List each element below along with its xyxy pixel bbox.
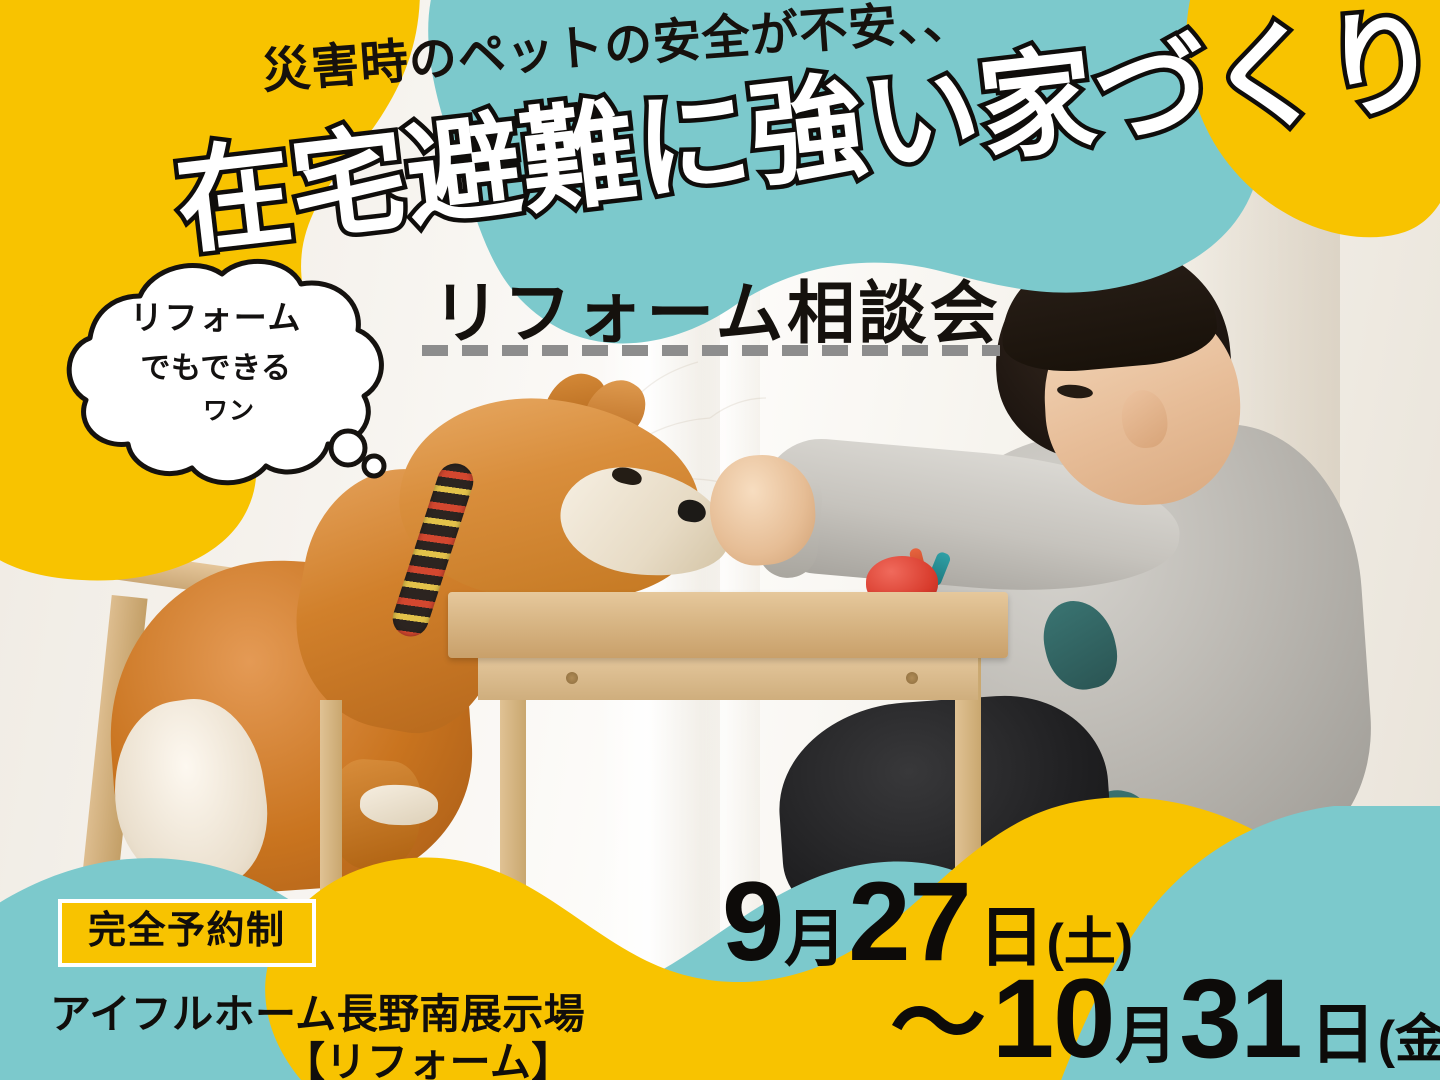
table-leg-front-left bbox=[500, 658, 526, 988]
thought-bubble-text: リフォーム でもできる ワン bbox=[56, 252, 376, 452]
start-day-number: 27 bbox=[848, 866, 970, 978]
poster-root: リフォーム でもできる ワン 災害時のペットの安全が不安、、 在宅避難に強い家づ… bbox=[0, 0, 1440, 1080]
end-month-number: 10 bbox=[992, 963, 1114, 1075]
table-top bbox=[448, 592, 1008, 658]
start-month-unit: 月 bbox=[784, 909, 846, 971]
dog-paw bbox=[359, 784, 438, 827]
table-screw-right bbox=[906, 672, 918, 684]
end-month-unit: 月 bbox=[1115, 1006, 1177, 1068]
table-leg-back-left bbox=[320, 700, 342, 1000]
thought-bubble-line-3: ワン bbox=[177, 391, 255, 427]
thought-bubble-line-1: リフォーム bbox=[130, 291, 302, 339]
end-day-number: 31 bbox=[1179, 963, 1301, 1075]
subtitle-dashed-rule bbox=[422, 345, 1000, 356]
subtitle-text: リフォーム相談会 bbox=[432, 258, 1001, 357]
start-month-number: 9 bbox=[722, 866, 783, 978]
date-range-tilde: 〜 bbox=[890, 977, 986, 1073]
end-weekday: (金) bbox=[1378, 1014, 1440, 1066]
venue-category: 【リフォーム】 bbox=[284, 1028, 573, 1080]
thought-bubble: リフォーム でもできる ワン bbox=[56, 252, 376, 482]
date-end: 〜 10 月 31 日 (金) bbox=[890, 963, 1440, 1075]
table-apron bbox=[478, 658, 978, 700]
reservation-badge: 完全予約制 bbox=[58, 899, 316, 967]
thought-bubble-line-2: でもできる bbox=[140, 343, 291, 387]
end-day-unit: 日 bbox=[1310, 1001, 1376, 1067]
table-screw-left bbox=[566, 672, 578, 684]
